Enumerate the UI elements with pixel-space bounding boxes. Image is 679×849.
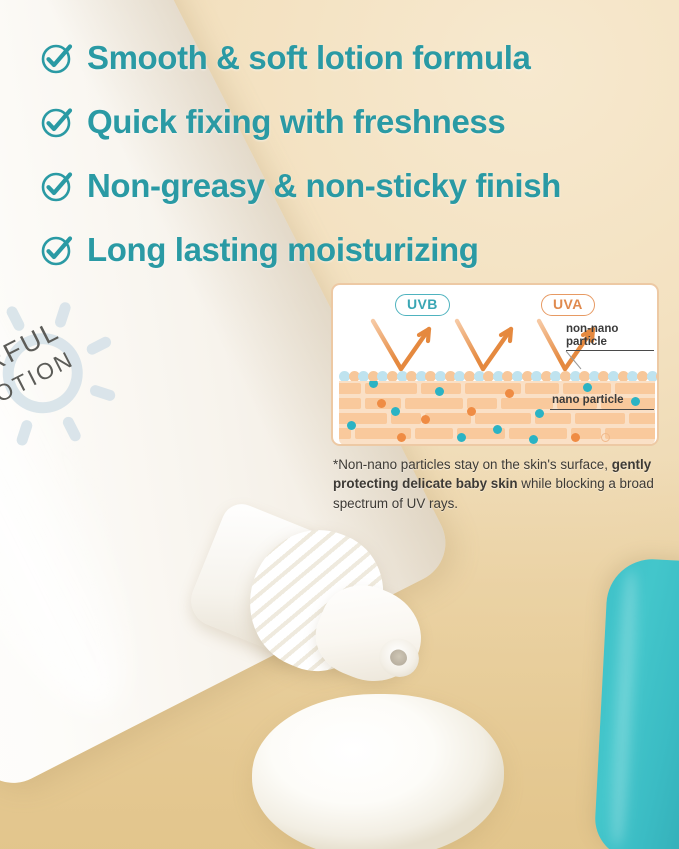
brick bbox=[501, 398, 553, 409]
uv-badge-group: UVB UVA bbox=[333, 294, 657, 318]
benefit-label: Non-greasy & non-sticky finish bbox=[87, 167, 561, 205]
check-circle-icon bbox=[40, 169, 74, 203]
benefit-label: Long lasting moisturizing bbox=[87, 231, 478, 269]
brick bbox=[425, 413, 471, 424]
teal-product-highlight bbox=[606, 570, 643, 847]
uv-arrow-2 bbox=[457, 321, 511, 369]
benefit-item-2: Quick fixing with freshness bbox=[40, 90, 664, 154]
nano-callout-underline bbox=[550, 409, 654, 410]
benefit-item-4: Long lasting moisturizing bbox=[40, 218, 664, 282]
skin-brick-layer bbox=[339, 381, 655, 445]
uva-badge: UVA bbox=[541, 294, 595, 316]
brick bbox=[339, 413, 387, 424]
brick bbox=[575, 413, 625, 424]
benefit-item-1: Smooth & soft lotion formula bbox=[40, 26, 664, 90]
brick bbox=[629, 413, 655, 424]
check-circle-icon bbox=[40, 233, 74, 267]
teal-product-bottle bbox=[593, 557, 679, 849]
diagram-caption: *Non-nano particles stay on the skin's s… bbox=[333, 455, 659, 513]
brick bbox=[525, 383, 559, 394]
uv-protection-diagram: UVB UVA bbox=[331, 283, 659, 446]
uv-arrow-1 bbox=[373, 321, 429, 369]
brick bbox=[339, 398, 361, 409]
product-marketing-image: WATERFUL SUN LOTION Smooth & soft lotion… bbox=[0, 0, 679, 849]
particle bbox=[656, 371, 659, 382]
brick bbox=[509, 428, 567, 439]
non-nano-callout-underline bbox=[566, 350, 654, 351]
lotion-dollop bbox=[252, 694, 504, 849]
benefit-label: Smooth & soft lotion formula bbox=[87, 39, 530, 77]
caption-line-1: *Non-nano particles stay on the skin's s… bbox=[333, 457, 608, 472]
brick bbox=[615, 383, 655, 394]
benefits-list: Smooth & soft lotion formula Quick fixin… bbox=[40, 26, 664, 282]
uvb-badge: UVB bbox=[395, 294, 450, 316]
brick bbox=[405, 398, 463, 409]
check-circle-icon bbox=[40, 105, 74, 139]
benefit-label: Quick fixing with freshness bbox=[87, 103, 505, 141]
brick bbox=[605, 428, 655, 439]
benefit-item-3: Non-greasy & non-sticky finish bbox=[40, 154, 664, 218]
brick bbox=[415, 428, 453, 439]
caption-after-bold: while bbox=[518, 476, 552, 491]
non-nano-particle-callout: non-nano particle bbox=[566, 323, 618, 350]
nano-particle-callout: nano particle bbox=[552, 394, 624, 407]
non-nano-leader-line bbox=[566, 351, 581, 369]
brick bbox=[475, 413, 531, 424]
brick bbox=[339, 383, 361, 394]
check-circle-icon bbox=[40, 41, 74, 75]
